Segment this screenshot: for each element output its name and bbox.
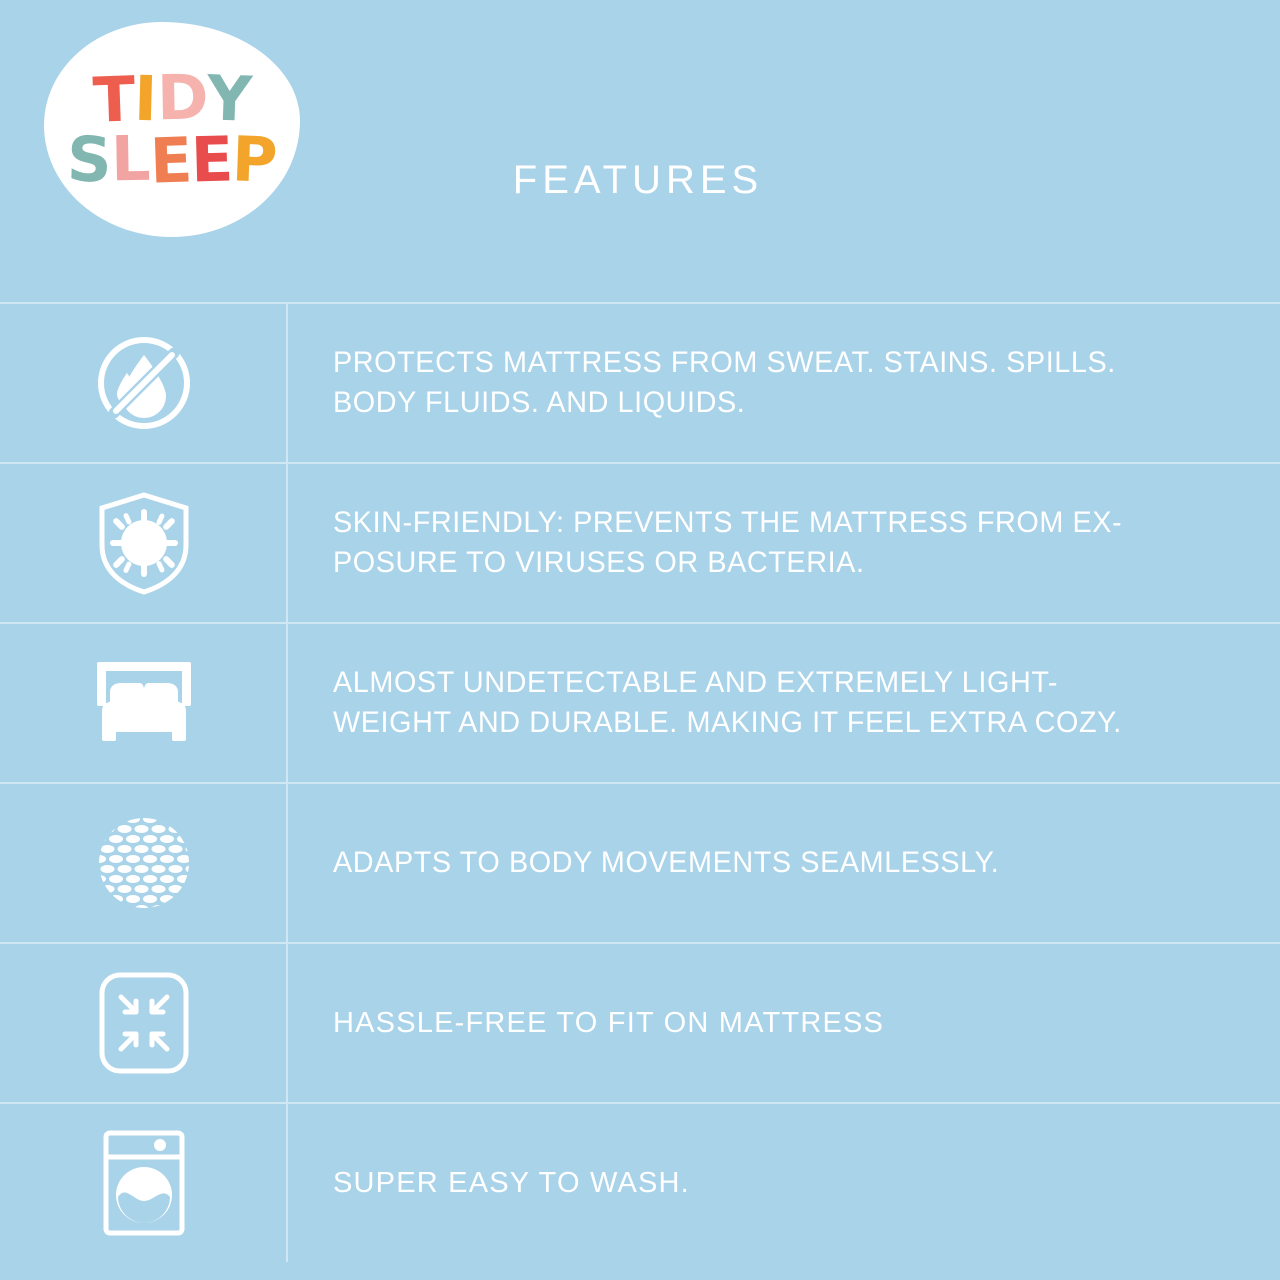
feature-row: ALMOST UNDETECTABLE AND EXTREMELY LIGHT-…	[0, 622, 1280, 782]
feature-icon-cell	[0, 624, 288, 782]
logo-line-tidy: T I D Y	[93, 70, 251, 129]
no-water-droplet-icon	[92, 331, 196, 435]
feature-list: PROTECTS MATTRESS FROM SWEAT. STAINS. SP…	[0, 302, 1280, 1262]
bed-icon	[92, 656, 196, 750]
page-title: FEATURES	[288, 158, 988, 203]
mesh-fabric-circle-icon	[94, 813, 194, 913]
feature-text-cell: PROTECTS MATTRESS FROM SWEAT. STAINS. SP…	[288, 304, 1280, 462]
fitted-sheet-arrows-icon	[98, 971, 190, 1075]
feature-text-cell: SKIN-FRIENDLY: PREVENTS THE MATTRESS FRO…	[288, 464, 1280, 622]
feature-row: SUPER EASY TO WASH.	[0, 1102, 1280, 1262]
logo-letter: I	[134, 69, 158, 128]
feature-icon-cell	[0, 944, 288, 1102]
feature-icon-cell	[0, 464, 288, 622]
feature-icon-cell	[0, 1104, 288, 1262]
logo-line-sleep: S L E E P	[67, 131, 276, 190]
logo-letter: L	[110, 129, 150, 189]
logo-letter: E	[149, 131, 192, 191]
washing-machine-icon	[102, 1129, 186, 1237]
feature-text-line: SKIN-FRIENDLY: PREVENTS THE MATTRESS FRO…	[333, 503, 1122, 543]
feature-text-cell: HASSLE-FREE TO FIT ON MATTRESS	[288, 944, 1280, 1102]
feature-text-cell: ALMOST UNDETECTABLE AND EXTREMELY LIGHT-…	[288, 624, 1280, 782]
logo-letter: D	[156, 68, 207, 128]
feature-text-line: ADAPTS TO BODY MOVEMENTS SEAMLESSLY.	[333, 843, 999, 883]
feature-row: SKIN-FRIENDLY: PREVENTS THE MATTRESS FRO…	[0, 462, 1280, 622]
logo-letter: Y	[206, 69, 252, 129]
feature-text-line: SUPER EASY TO WASH.	[333, 1164, 690, 1203]
logo-letter: S	[67, 130, 112, 190]
logo-letter: E	[190, 130, 233, 190]
logo-letter: P	[231, 130, 277, 190]
feature-text-line: PROTECTS MATTRESS FROM SWEAT. STAINS. SP…	[333, 343, 1116, 383]
feature-text-line: HASSLE-FREE TO FIT ON MATTRESS	[333, 1004, 884, 1043]
features-infographic: T I D Y S L E E P FEATURES	[0, 0, 1280, 1280]
feature-row: ADAPTS TO BODY MOVEMENTS SEAMLESSLY.	[0, 782, 1280, 942]
feature-row: HASSLE-FREE TO FIT ON MATTRESS	[0, 942, 1280, 1102]
feature-text-line: BODY FLUIDS. AND LIQUIDS.	[333, 383, 1116, 423]
feature-row: PROTECTS MATTRESS FROM SWEAT. STAINS. SP…	[0, 302, 1280, 462]
header: T I D Y S L E E P FEATURES	[0, 0, 1280, 302]
feature-text-line: ALMOST UNDETECTABLE AND EXTREMELY LIGHT-	[333, 663, 1122, 703]
feature-icon-cell	[0, 304, 288, 462]
brand-logo: T I D Y S L E E P	[44, 22, 300, 237]
feature-text-line: POSURE TO VIRUSES OR BACTERIA.	[333, 543, 1122, 583]
feature-text-cell: ADAPTS TO BODY MOVEMENTS SEAMLESSLY.	[288, 784, 1280, 942]
feature-text-line: WEIGHT AND DURABLE. MAKING IT FEEL EXTRA…	[333, 703, 1122, 743]
shield-virus-icon	[94, 489, 194, 597]
feature-icon-cell	[0, 784, 288, 942]
feature-text-cell: SUPER EASY TO WASH.	[288, 1104, 1280, 1262]
